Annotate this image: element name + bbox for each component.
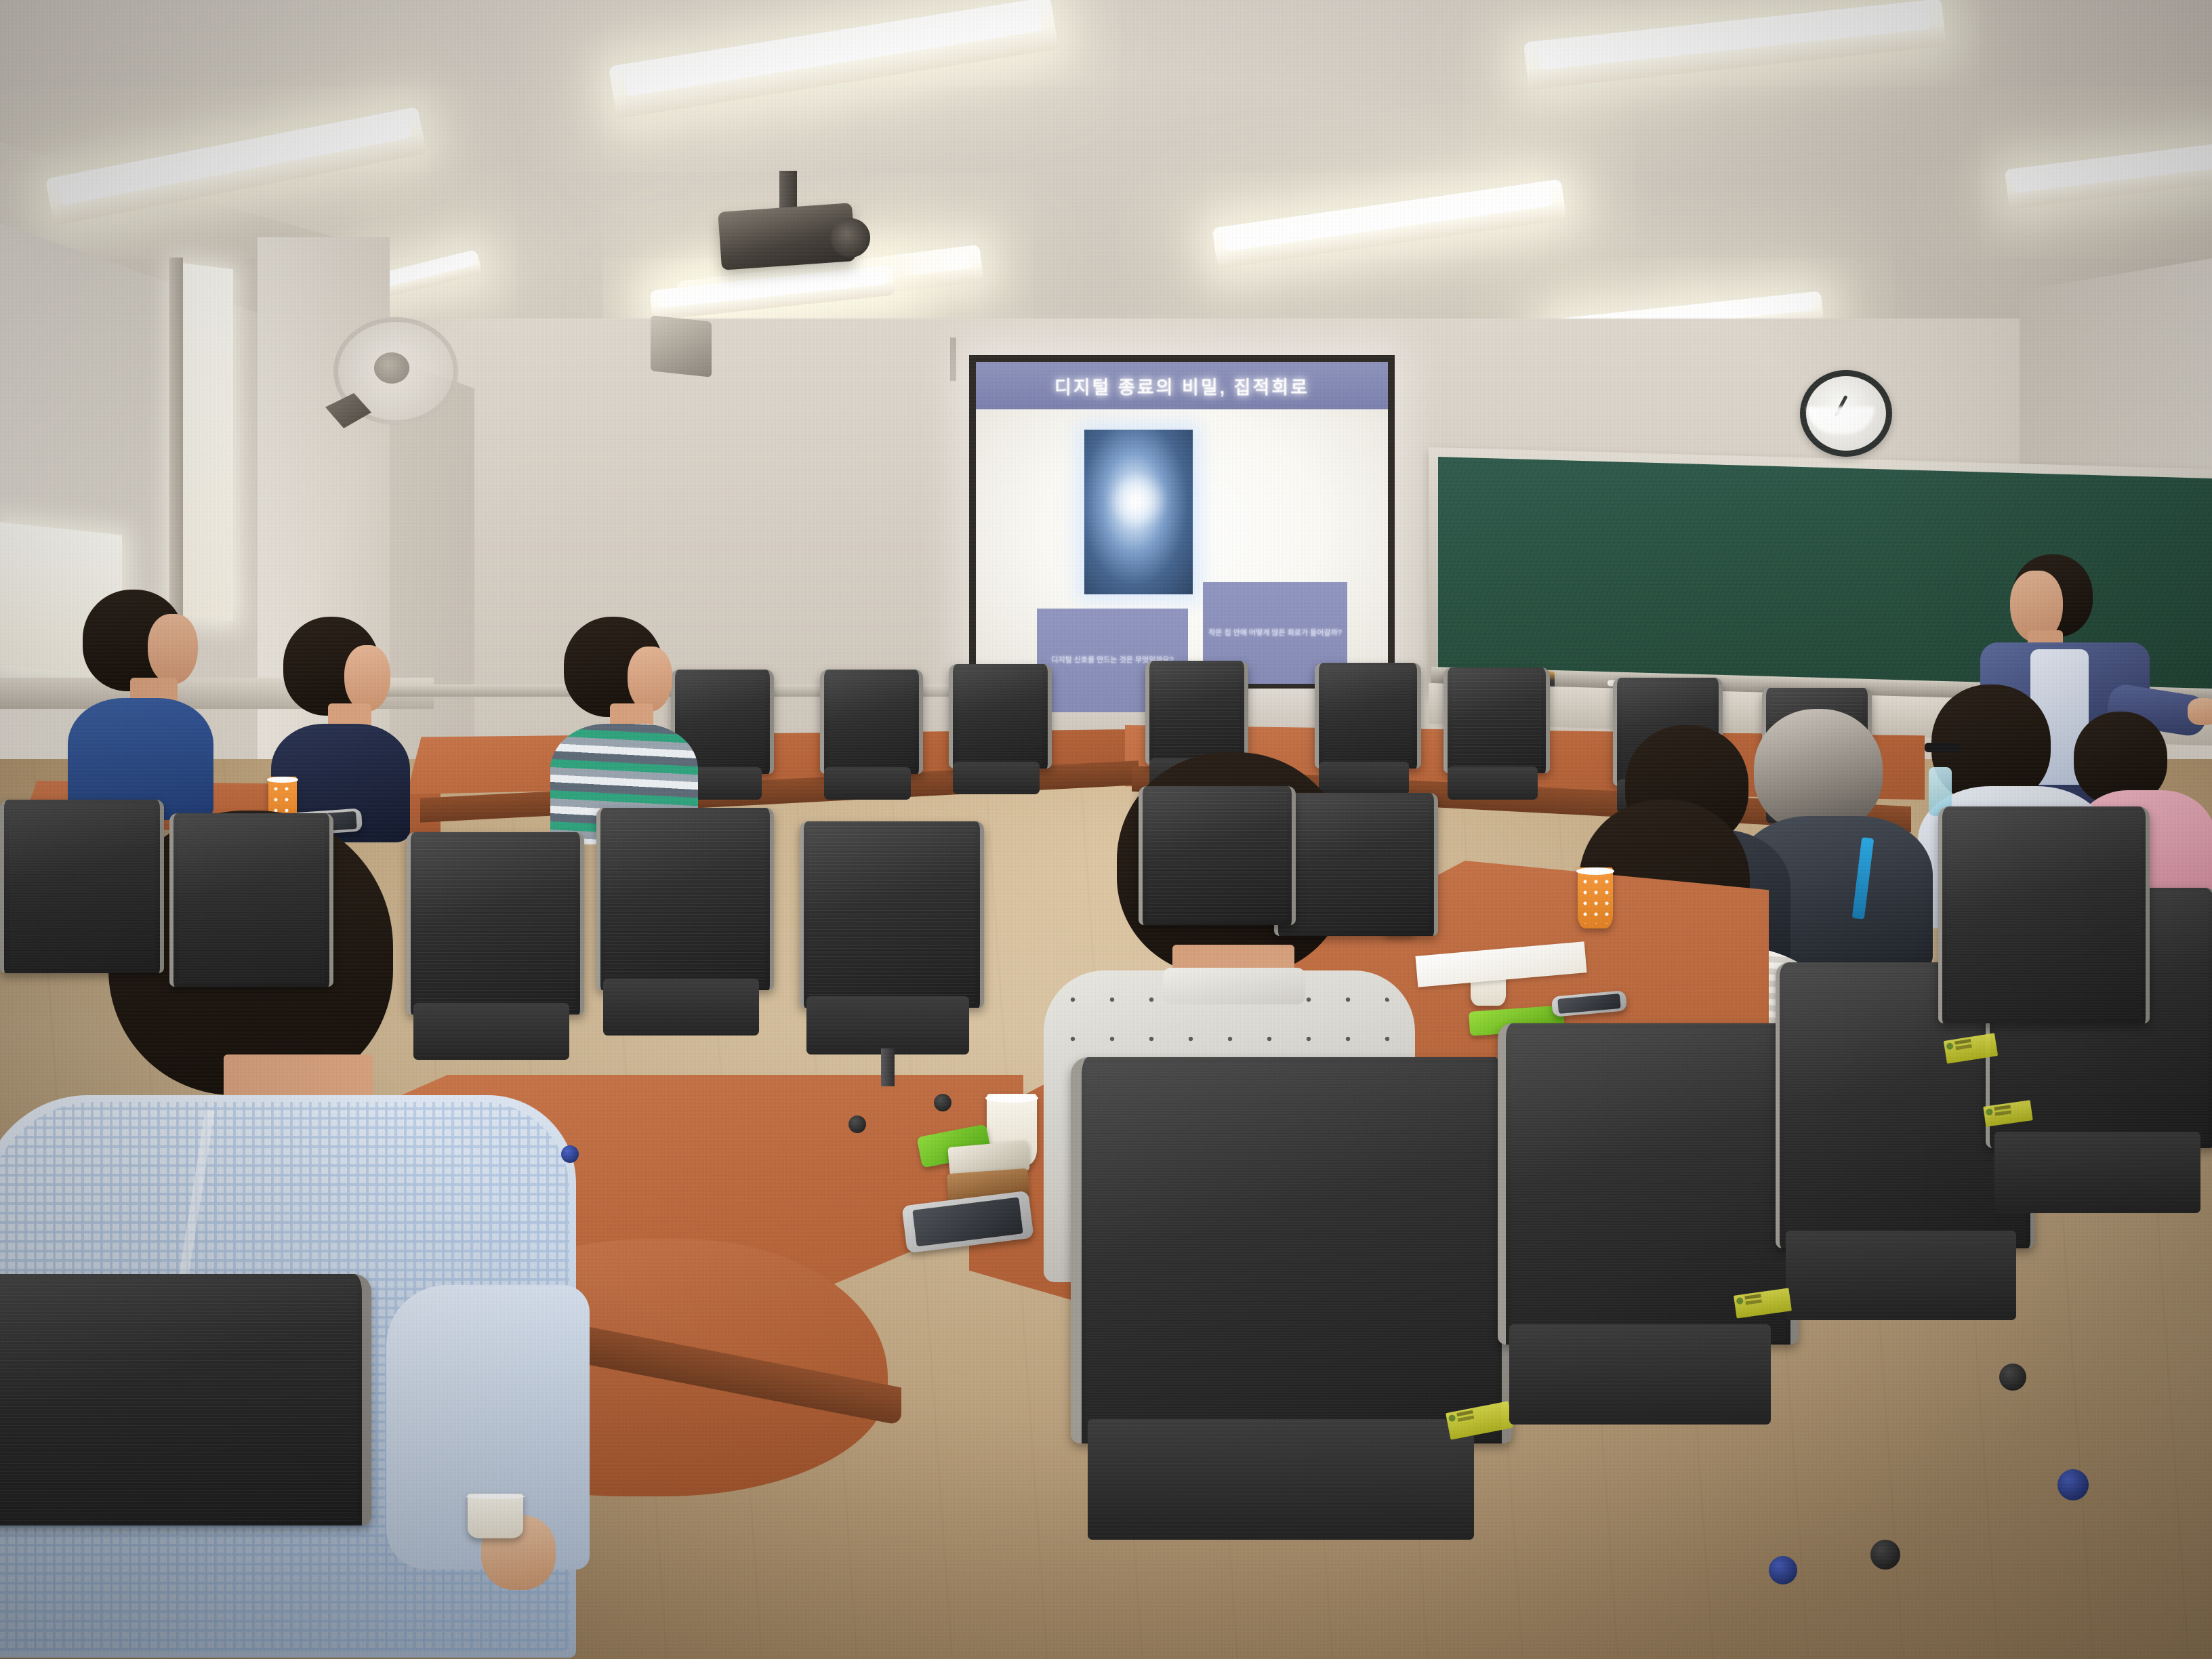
office-chair[interactable] — [1071, 1057, 1491, 1659]
office-chair[interactable] — [1139, 786, 1288, 1003]
chair-seat — [603, 979, 759, 1036]
office-chair[interactable] — [800, 821, 976, 1113]
chair-caster — [1769, 1556, 1797, 1584]
window-left — [175, 262, 233, 622]
attendee-blue-polo — [68, 590, 224, 813]
paper-cup-orange-dot[interactable] — [1578, 867, 1613, 928]
fan-hub-icon — [374, 352, 409, 384]
chair-caster — [1999, 1364, 2026, 1391]
slide-textbox-right-text: 작은 칩 안에 어떻게 많은 회로가 들어갈까? — [1208, 628, 1342, 639]
chair-seat — [824, 767, 912, 800]
office-chair[interactable] — [407, 832, 576, 1117]
face — [344, 645, 390, 712]
projection-screen: 디지털 종료의 비밀, 집적회로 디지털 신호를 만드는 것은 무엇일까요? 작… — [969, 355, 1395, 689]
projector-lens-icon — [831, 218, 870, 258]
face — [628, 647, 672, 712]
chair-stem — [881, 1048, 895, 1086]
office-chair[interactable] — [1274, 793, 1430, 1017]
office-chair[interactable] — [1443, 668, 1542, 833]
wall-speaker — [651, 315, 712, 377]
seminar-room-photo: 디지털 종료의 비밀, 집적회로 디지털 신호를 만드는 것은 무엇일까요? 작… — [0, 0, 2212, 1659]
paper-cup-white[interactable] — [468, 1494, 523, 1538]
chair-back — [1145, 661, 1248, 765]
presentation-slide: 디지털 종료의 비밀, 집적회로 디지털 신호를 만드는 것은 무엇일까요? 작… — [976, 362, 1388, 682]
office-chair[interactable] — [169, 813, 325, 1084]
chair-back — [1938, 806, 2150, 1023]
chair-caster — [2057, 1469, 2089, 1500]
slide-title-text: 디지털 종료의 비밀, 집적회로 — [1054, 373, 1309, 399]
chair-back — [0, 800, 164, 973]
chair-back — [949, 664, 1052, 769]
chair-back — [820, 670, 923, 774]
chair-seat — [953, 762, 1040, 794]
chair-back — [800, 821, 984, 1008]
office-chair[interactable] — [596, 808, 766, 1092]
office-chair[interactable] — [820, 670, 915, 832]
chair-seat — [413, 1003, 569, 1060]
slide-photo — [1084, 430, 1193, 594]
phone-screen — [912, 1197, 1023, 1246]
office-chair[interactable] — [1498, 1023, 1782, 1525]
window-frame — [169, 258, 183, 623]
chair-back — [1071, 1057, 1513, 1443]
office-chair[interactable] — [949, 664, 1044, 827]
chair-back — [1274, 793, 1438, 936]
chair-back — [1139, 786, 1296, 925]
office-chair[interactable] — [0, 800, 156, 1071]
chair-caster — [561, 1145, 579, 1163]
chair-back — [407, 832, 584, 1015]
face — [148, 614, 198, 684]
screen-roller-case — [950, 337, 956, 381]
chair-back — [1443, 668, 1550, 773]
chair-caster — [1870, 1540, 1900, 1570]
phone-screen — [1557, 994, 1621, 1015]
chair-back — [169, 813, 333, 987]
chair-caster — [848, 1115, 866, 1133]
chair-seat — [1088, 1419, 1474, 1540]
chair-seat — [1509, 1324, 1771, 1425]
chair-seat — [1786, 1231, 2016, 1320]
chair-back — [596, 808, 774, 990]
chair-back — [0, 1274, 371, 1525]
chair-seat — [1448, 766, 1538, 800]
chair-caster — [934, 1094, 951, 1111]
slide-title-band: 디지털 종료의 비밀, 집적회로 — [976, 362, 1388, 409]
office-chair[interactable] — [0, 1274, 352, 1659]
chair-seat — [806, 996, 968, 1054]
attendee-striped-polo — [550, 617, 706, 834]
office-chair[interactable] — [1938, 806, 2142, 1145]
